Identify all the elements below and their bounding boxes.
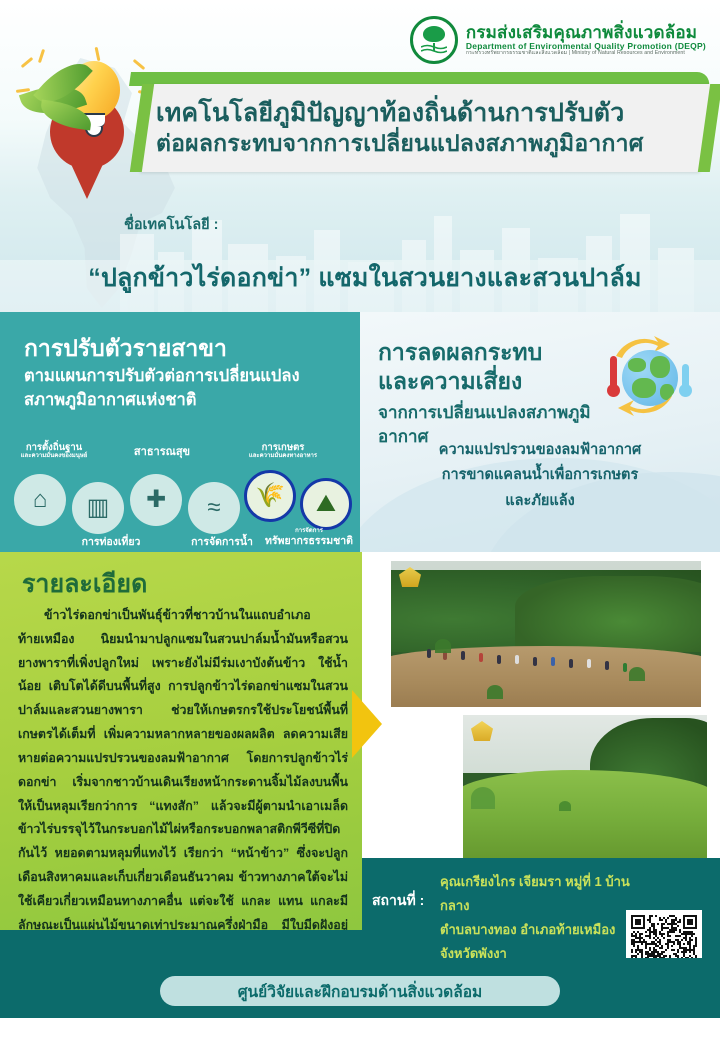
adaptation-panel: การปรับตัวรายสาขา ตามแผนการปรับตัวต่อการ… [0,312,360,552]
risk-item: ความแปรปรวนของลมฟ้าอากาศ [360,438,720,463]
adaptation-sub-1: ตามแผนการปรับตัวต่อการเปลี่ยนแปลง [24,364,344,388]
risk-list: ความแปรปรวนของลมฟ้าอากาศ การขาดแคลนน้ำเพ… [360,438,720,514]
natural-resources-mountain-forest-icon: ⛰ [316,492,336,516]
org-ministry: กระทรวงทรัพยากรธรรมชาติและสิ่งแวดล้อม | … [466,51,706,56]
thermometer-cold-icon [682,364,689,390]
thermometer-hot-icon [610,356,617,390]
sector-icon-settlement[interactable]: ⌂ [14,474,66,526]
location-label: สถานที่ : [372,890,424,912]
sector-icon-water[interactable]: ≈ [188,482,240,534]
details-panel: รายละเอียด ข้าวไร่ดอกข่าเป็นพันธุ์ข้าวที… [0,552,362,952]
location-line: ตำบลบางทอง อำเภอท้ายเหมือง [440,918,640,942]
adaptation-heading: การปรับตัวรายสาขา [24,334,344,364]
footer-pill[interactable]: ศูนย์วิจัยและฝึกอบรมด้านสิ่งแวดล้อม [160,976,560,1006]
sector-icons-row: การตั้งถิ่นฐาน และความมั่นคงของมนุษย์ สา… [0,442,360,552]
details-heading: รายละเอียด [22,564,147,604]
footer-text: ศูนย์วิจัยและฝึกอบรมด้านสิ่งแวดล้อม [238,979,483,1004]
globe-thermometer-climate-icon [596,334,692,420]
sector-label-agriculture: การเกษตร และความมั่นคงทางอาหาร [228,442,338,461]
mid-section: การปรับตัวรายสาขา ตามแผนการปรับตัวต่อการ… [0,312,720,552]
sector-label-natural-resources: การจัดการ ทรัพยากรธรรมชาติ [258,528,360,548]
page-base [0,1018,720,1040]
technology-name: “ปลูกข้าวไร่ดอกข่า” แซมในสวนยางและสวนปาล… [40,258,690,298]
water-management-faucet-river-icon: ≈ [207,496,220,520]
details-body: ข้าวไร่ดอกข่าเป็นพันธุ์ข้าวที่ชาวบ้านในแ… [18,604,348,961]
tourism-city-car-icon: ▥ [87,496,110,520]
agriculture-crops-tractor-icon: 🌾 [255,484,285,508]
sector-icon-tourism[interactable]: ▥ [72,482,124,534]
location-line: คุณเกรียงไกร เจียมรา หมู่ที่ 1 บ้านกลาง [440,870,640,918]
water-waves-icon [421,44,447,54]
upland-rice-field-on-slope-photo [460,712,710,862]
globe-icon [622,350,678,406]
sector-label-settlement: การตั้งถิ่นฐาน และความมั่นคงของมนุษย์ [2,442,106,461]
location-bar: สถานที่ : คุณเกรียงไกร เจียมรา หมู่ที่ 1… [362,858,720,958]
poster-root: กรมส่งเสริมคุณภาพสิ่งแวดล้อม Department … [0,0,720,1040]
page-title: เทคโนโลยีภูมิปัญญาท้องถิ่นด้านการปรับตัว… [156,88,704,168]
title-line-2: ต่อผลกระทบจากการเปลี่ยนแปลงสภาพภูมิอากาศ [156,129,704,158]
risk-item: การขาดแคลนน้ำเพื่อการเกษตร [360,463,720,488]
adaptation-sub-2: สภาพภูมิอากาศแห่งชาติ [24,388,344,412]
org-name-th: กรมส่งเสริมคุณภาพสิ่งแวดล้อม [466,24,706,42]
sector-icon-natural-resources[interactable]: ⛰ [300,478,352,530]
villagers-planting-upland-rice-photo [388,558,704,710]
mitigation-panel: การลดผลกระทบ และความเสี่ยง จากการเปลี่ยน… [360,312,720,552]
sector-label-tourism: การท่องเที่ยว [56,536,166,549]
deqp-emblem-icon [410,16,458,64]
sector-icon-health[interactable]: ✚ [130,474,182,526]
location-lines: คุณเกรียงไกร เจียมรา หมู่ที่ 1 บ้านกลาง … [440,870,640,966]
yellow-arrow-decor [352,690,382,758]
technology-label: ชื่อเทคโนโลยี : [124,213,219,236]
sector-icon-agriculture[interactable]: 🌾 [244,470,296,522]
public-health-hospital-icon: ✚ [146,488,166,512]
header-banner: กรมส่งเสริมคุณภาพสิ่งแวดล้อม Department … [0,0,720,312]
title-line-1: เทคโนโลยีภูมิปัญญาท้องถิ่นด้านการปรับตัว [156,98,704,129]
sector-label-health: สาธารณสุข [112,446,212,459]
settlement-houses-icon: ⌂ [33,488,48,512]
risk-item: และภัยแล้ง [360,489,720,514]
deqp-logo: กรมส่งเสริมคุณภาพสิ่งแวดล้อม Department … [410,16,706,64]
